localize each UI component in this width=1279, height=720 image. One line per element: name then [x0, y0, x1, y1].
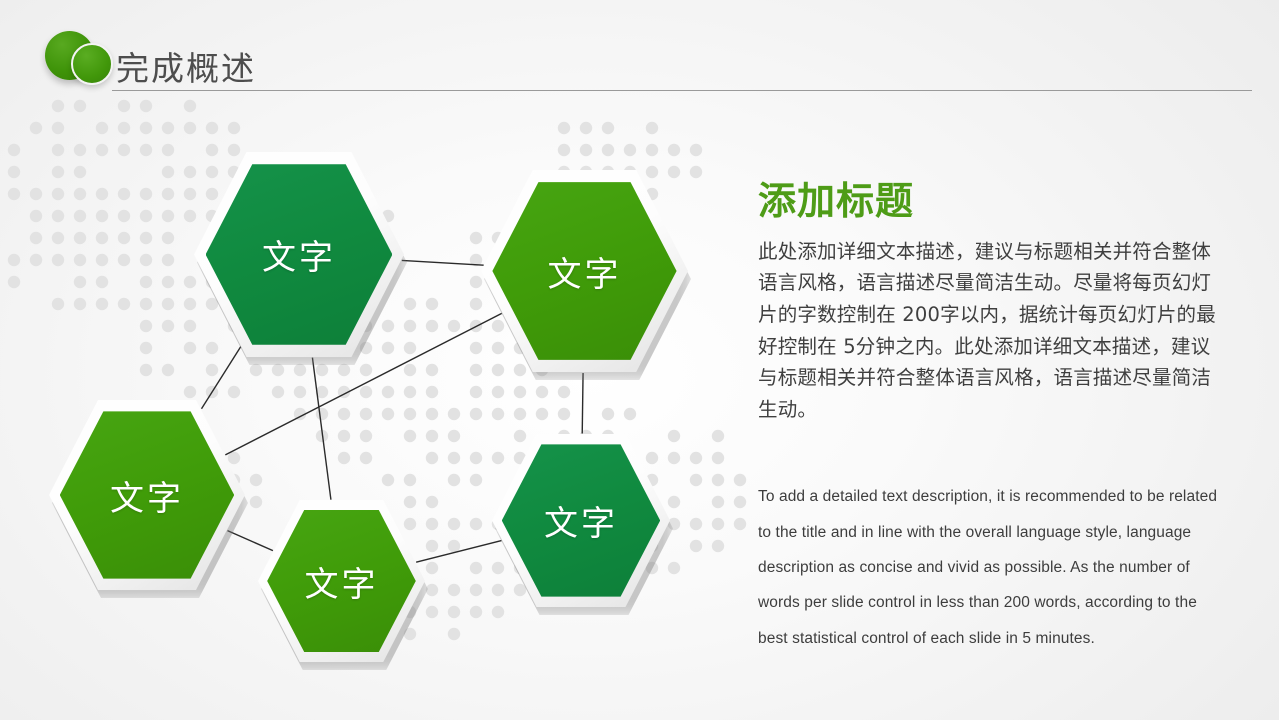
hexagon-node-1[interactable]: 文字 [194, 152, 404, 357]
map-dot [404, 320, 416, 332]
map-dot [646, 144, 658, 156]
map-dot [690, 540, 702, 552]
map-dot [426, 320, 438, 332]
map-dot [690, 166, 702, 178]
map-dot [426, 496, 438, 508]
map-dot [448, 474, 460, 486]
map-dot [140, 298, 152, 310]
page-title: 完成概述 [116, 42, 256, 90]
map-dot [470, 474, 482, 486]
map-dot [734, 518, 746, 530]
map-dot [712, 452, 724, 464]
map-dot [470, 518, 482, 530]
hexagon-node-5[interactable]: 文字 [492, 434, 670, 607]
map-dot [52, 100, 64, 112]
map-dot [140, 342, 152, 354]
map-dot [470, 408, 482, 420]
map-dot [96, 144, 108, 156]
map-dot [52, 254, 64, 266]
map-dot [514, 408, 526, 420]
map-dot [426, 364, 438, 376]
connector-node-1-node-4 [312, 358, 330, 500]
map-dot [470, 452, 482, 464]
map-dot [558, 408, 570, 420]
map-dot [30, 254, 42, 266]
map-dot [316, 408, 328, 420]
map-dot [558, 122, 570, 134]
map-dot [426, 386, 438, 398]
map-dot [184, 122, 196, 134]
map-dot [338, 386, 350, 398]
map-dot [448, 628, 460, 640]
map-dot [96, 188, 108, 200]
map-dot [338, 408, 350, 420]
map-dot [470, 606, 482, 618]
map-dot [448, 518, 460, 530]
map-dot [294, 386, 306, 398]
slide-canvas: 完成概述 文字文字文字文字文字 添加标题 此处添加详细文本描述，建议与标题相关并… [0, 0, 1279, 720]
map-dot [96, 122, 108, 134]
map-dot [712, 474, 724, 486]
map-dot [74, 188, 86, 200]
map-dot [118, 298, 130, 310]
map-dot [470, 584, 482, 596]
map-dot [52, 144, 64, 156]
content-column: 添加标题 此处添加详细文本描述，建议与标题相关并符合整体语言风格，语言描述尽量简… [758, 182, 1224, 656]
map-dot [294, 408, 306, 420]
connector-node-2-node-5 [582, 373, 583, 434]
map-dot [118, 144, 130, 156]
map-dot [580, 122, 592, 134]
map-dot [448, 540, 460, 552]
map-dot [624, 408, 636, 420]
map-dot [8, 188, 20, 200]
map-dot [448, 320, 460, 332]
map-dot [426, 518, 438, 530]
map-dot [140, 276, 152, 288]
map-dot [360, 408, 372, 420]
map-dot [360, 452, 372, 464]
hexagon-node-2[interactable]: 文字 [481, 170, 688, 372]
content-paragraph-chinese: 此处添加详细文本描述，建议与标题相关并符合整体语言风格，语言描述尽量简洁生动。尽… [758, 236, 1224, 425]
map-dot [8, 276, 20, 288]
map-dot [118, 210, 130, 222]
map-dot [338, 430, 350, 442]
map-dot [140, 144, 152, 156]
map-dot [118, 254, 130, 266]
map-dot [426, 408, 438, 420]
map-dot [96, 276, 108, 288]
map-dot [448, 606, 460, 618]
map-dot [118, 188, 130, 200]
map-dot [470, 386, 482, 398]
map-dot [52, 122, 64, 134]
map-dot [74, 254, 86, 266]
map-dot [690, 144, 702, 156]
map-dot [96, 254, 108, 266]
map-dot [140, 100, 152, 112]
map-dot [338, 364, 350, 376]
map-dot [8, 254, 20, 266]
map-dot [712, 518, 724, 530]
map-dot [294, 364, 306, 376]
map-dot [426, 606, 438, 618]
map-dot [140, 320, 152, 332]
map-dot [602, 144, 614, 156]
map-dot [140, 188, 152, 200]
map-dot [580, 144, 592, 156]
map-dot [206, 122, 218, 134]
map-dot [162, 276, 174, 288]
map-dot [536, 408, 548, 420]
map-dot [52, 210, 64, 222]
map-dot [52, 298, 64, 310]
map-dot [162, 188, 174, 200]
map-dot [316, 364, 328, 376]
map-dot [360, 364, 372, 376]
map-dot [426, 584, 438, 596]
map-dot [74, 100, 86, 112]
logo-circle-small [71, 43, 113, 85]
map-dot [602, 408, 614, 420]
map-dot [140, 232, 152, 244]
map-dot [30, 210, 42, 222]
map-dot [712, 430, 724, 442]
map-dot [338, 452, 350, 464]
map-dot [382, 474, 394, 486]
map-dot [162, 364, 174, 376]
map-dot [426, 562, 438, 574]
map-dot [74, 144, 86, 156]
map-dot [118, 122, 130, 134]
map-dot [162, 298, 174, 310]
title-divider [112, 90, 1252, 91]
map-dot [426, 452, 438, 464]
map-dot [74, 298, 86, 310]
map-dot [52, 166, 64, 178]
map-dot [360, 430, 372, 442]
map-dot [162, 232, 174, 244]
map-dot [382, 386, 394, 398]
map-dot [404, 298, 416, 310]
map-dot [734, 474, 746, 486]
map-dot [250, 474, 262, 486]
map-dot [162, 320, 174, 332]
map-dot [184, 386, 196, 398]
map-dot [492, 606, 504, 618]
map-dot [690, 474, 702, 486]
map-dot [162, 254, 174, 266]
map-dot [624, 144, 636, 156]
map-dot [712, 496, 724, 508]
map-dot [74, 166, 86, 178]
map-dot [690, 518, 702, 530]
map-dot [250, 364, 262, 376]
map-dot [404, 342, 416, 354]
map-dot [404, 364, 416, 376]
map-dot [74, 210, 86, 222]
map-dot [316, 430, 328, 442]
map-dot [448, 430, 460, 442]
map-dot [74, 232, 86, 244]
map-dot [118, 232, 130, 244]
map-dot [30, 232, 42, 244]
map-dot [140, 364, 152, 376]
map-dot [8, 166, 20, 178]
map-dot [360, 386, 372, 398]
map-dot [8, 144, 20, 156]
map-dot [74, 276, 86, 288]
map-dot [52, 188, 64, 200]
map-dot [162, 166, 174, 178]
map-dot [448, 452, 460, 464]
map-dot [734, 496, 746, 508]
map-dot [404, 386, 416, 398]
map-dot [558, 386, 570, 398]
map-dot [712, 540, 724, 552]
map-dot [514, 386, 526, 398]
hexagon-node-3[interactable]: 文字 [49, 400, 245, 590]
map-dot [492, 386, 504, 398]
map-dot [426, 540, 438, 552]
map-dot [536, 386, 548, 398]
map-dot [206, 386, 218, 398]
map-dot [448, 408, 460, 420]
map-dot [162, 144, 174, 156]
map-dot [272, 364, 284, 376]
map-dot [184, 100, 196, 112]
map-dot [96, 232, 108, 244]
connector-node-1-node-2 [402, 260, 484, 265]
map-dot [52, 232, 64, 244]
map-dot [162, 210, 174, 222]
map-dot [96, 210, 108, 222]
content-paragraph-english: To add a detailed text description, it i… [758, 479, 1224, 656]
map-dot [382, 408, 394, 420]
map-dot [140, 122, 152, 134]
map-dot [228, 122, 240, 134]
map-dot [426, 298, 438, 310]
map-dot [448, 584, 460, 596]
map-dot [558, 144, 570, 156]
map-dot [96, 298, 108, 310]
map-dot [162, 122, 174, 134]
hexagon-node-4[interactable]: 文字 [258, 500, 425, 662]
map-dot [426, 430, 438, 442]
map-dot [118, 100, 130, 112]
map-dot [690, 452, 702, 464]
map-dot [492, 408, 504, 420]
map-dot [646, 122, 658, 134]
content-heading: 添加标题 [758, 182, 1224, 222]
map-dot [272, 386, 284, 398]
map-dot [30, 122, 42, 134]
map-dot [404, 408, 416, 420]
map-dot [316, 386, 328, 398]
map-dot [602, 122, 614, 134]
map-dot [140, 254, 152, 266]
connector-node-4-node-5 [416, 541, 501, 563]
map-dot [404, 474, 416, 486]
map-dot [470, 562, 482, 574]
map-dot [404, 430, 416, 442]
map-dot [30, 188, 42, 200]
map-dot [206, 364, 218, 376]
map-dot [140, 210, 152, 222]
map-dot [668, 144, 680, 156]
map-dot [228, 386, 240, 398]
